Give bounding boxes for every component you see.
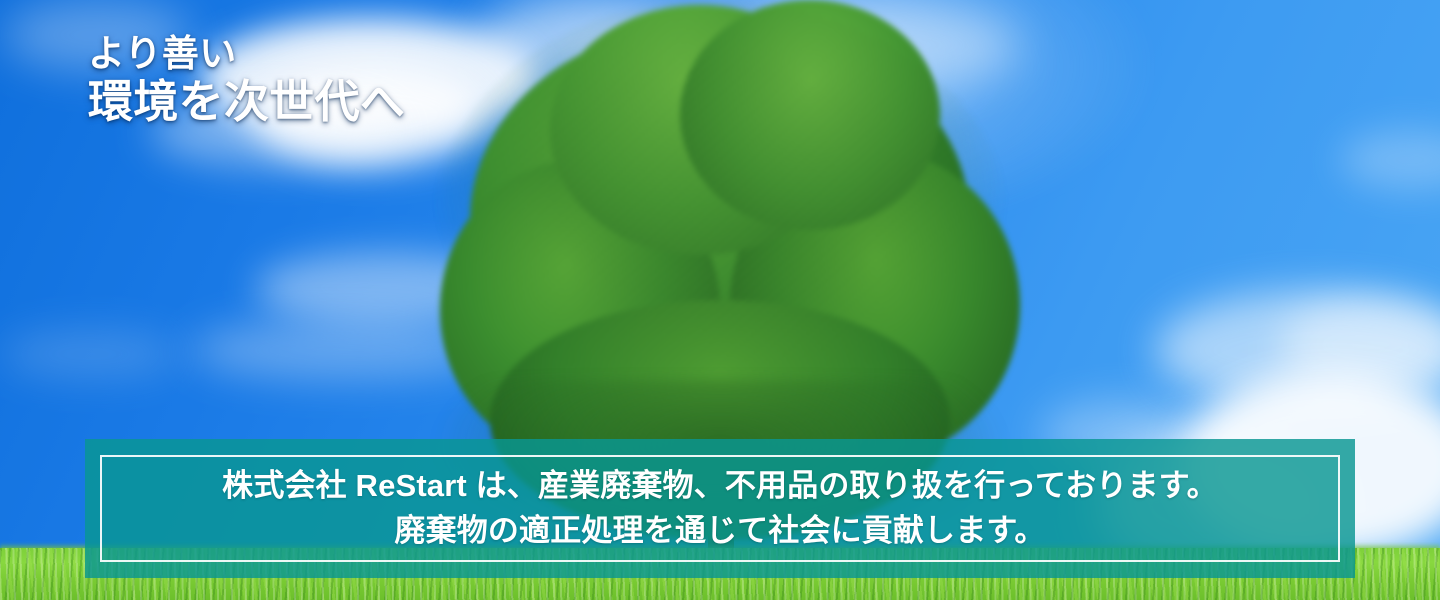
headline-line-2: 環境を次世代へ	[88, 78, 405, 126]
message-banner-frame: 株式会社 ReStart は、産業廃棄物、不用品の取り扱を行っております。 廃棄…	[100, 455, 1340, 562]
banner-line-1: 株式会社 ReStart は、産業廃棄物、不用品の取り扱を行っております。	[222, 464, 1218, 508]
hero-headline: より善い 環境を次世代へ	[88, 34, 405, 126]
hero-banner: より善い 環境を次世代へ 株式会社 ReStart は、産業廃棄物、不用品の取り…	[0, 0, 1440, 600]
headline-line-1: より善い	[88, 34, 405, 73]
banner-line-2: 廃棄物の適正処理を通じて社会に貢献します。	[394, 509, 1045, 553]
message-banner: 株式会社 ReStart は、産業廃棄物、不用品の取り扱を行っております。 廃棄…	[85, 439, 1355, 578]
